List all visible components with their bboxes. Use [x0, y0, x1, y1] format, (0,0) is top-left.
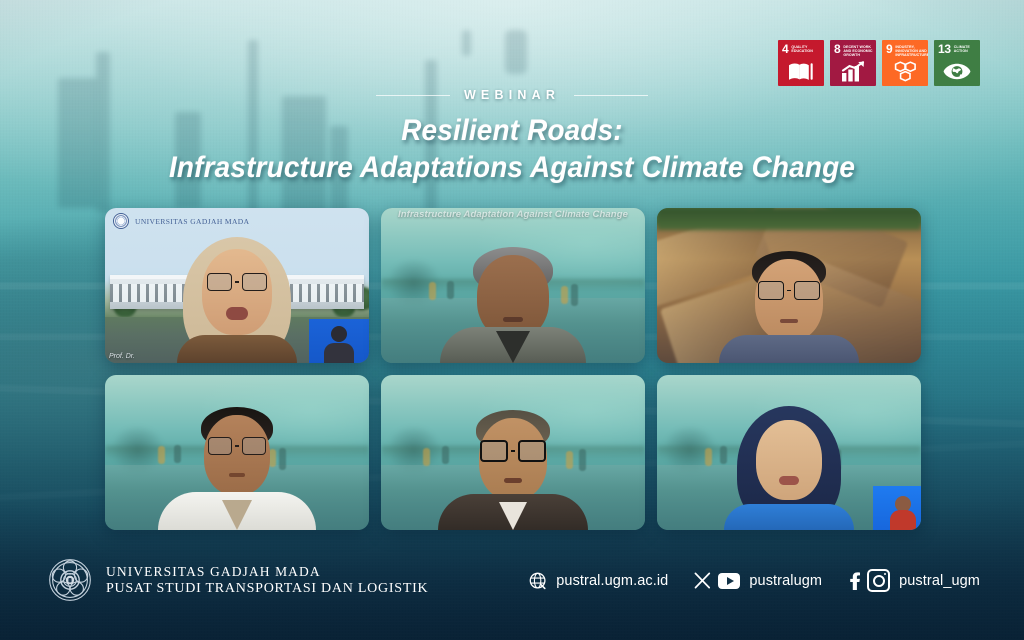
webinar-kicker: WEBINAR [0, 88, 1024, 102]
mouth [504, 478, 522, 483]
contact-website-text: pustral.ugm.ac.id [556, 573, 668, 589]
video-tile-4[interactable] [105, 375, 369, 530]
sdg-label: INDUSTRY, INNOVATION AND INFRASTRUCTURE [895, 44, 928, 58]
mouth [780, 319, 798, 323]
contact-social-x-youtube[interactable]: pustralugm [694, 572, 822, 589]
mouth [229, 473, 245, 477]
social-icon-group [694, 572, 740, 589]
video-tile-1[interactable]: UNIVERSITAS GADJAH MADA Prof. Dr. [105, 208, 369, 363]
ugm-seal-icon [113, 213, 129, 229]
contact-social-fb-ig[interactable]: pustral_ugm [848, 569, 980, 592]
sdg-badge-4: 4 QUALITY EDUCATION [778, 40, 824, 86]
video-tile-2[interactable]: Infrastructure Adaptation Against Climat… [381, 208, 645, 363]
sdg-badge-9: 9 INDUSTRY, INNOVATION AND INFRASTRUCTUR… [882, 40, 928, 86]
sdg-label: CLIMATE ACTION [954, 44, 977, 53]
instagram-icon[interactable] [867, 569, 890, 592]
footer-unit-name: PUSAT STUDI TRANSPORTASI DAN LOGISTIK [106, 580, 428, 598]
globe-icon [529, 572, 547, 590]
torso [719, 335, 859, 363]
participant-silhouette [438, 408, 588, 530]
kicker-rule-right [574, 95, 648, 96]
mouth [503, 317, 523, 322]
sdg-badge-row: 4 QUALITY EDUCATION 8 DECENT WORK AND EC… [778, 40, 980, 86]
footer-contacts: pustral.ugm.ac.id pustralugm [529, 569, 980, 592]
video-grid: UNIVERSITAS GADJAH MADA Prof. Dr. [105, 208, 921, 530]
sdg-number: 13 [938, 44, 951, 54]
participant-silhouette [438, 243, 588, 363]
contact-social-handle-2: pustral_ugm [899, 573, 980, 589]
face [202, 249, 272, 335]
tile-watermark: UNIVERSITAS GADJAH MADA [113, 213, 249, 229]
sdg-number: 4 [782, 44, 788, 54]
cubes-icon [882, 59, 928, 83]
page-title: Resilient Roads: Infrastructure Adaptati… [0, 112, 1024, 186]
video-tile-5[interactable] [381, 375, 645, 530]
sdg-badge-13: 13 CLIMATE ACTION [934, 40, 980, 86]
growth-chart-icon [830, 59, 876, 83]
eye-earth-icon [934, 59, 980, 83]
face [204, 415, 270, 495]
participant-silhouette [719, 402, 859, 530]
youtube-icon[interactable] [718, 573, 740, 589]
title-line-1: Resilient Roads: [36, 112, 988, 149]
footer-branding: UNIVERSITAS GADJAH MADA PUSAT STUDI TRAN… [48, 558, 428, 602]
mouth [779, 476, 799, 485]
social-icon-group [848, 569, 890, 592]
mouth [226, 307, 248, 320]
participant-silhouette [171, 235, 303, 363]
title-line-2: Infrastructure Adaptations Against Clima… [36, 149, 988, 186]
tile-watermark-text: UNIVERSITAS GADJAH MADA [135, 217, 249, 226]
participant-silhouette [157, 404, 317, 530]
kicker-rule-left [376, 95, 450, 96]
video-tile-6[interactable] [657, 375, 921, 530]
contact-social-handle-1: pustralugm [749, 573, 822, 589]
sdg-number: 9 [886, 44, 892, 54]
kicker-label: WEBINAR [464, 88, 560, 102]
eyeglasses-icon [207, 273, 267, 291]
eyeglasses-icon [208, 437, 266, 455]
picture-in-picture-interpreter[interactable] [309, 319, 369, 363]
torso [724, 504, 854, 530]
picture-in-picture-interpreter[interactable] [873, 486, 921, 530]
webinar-poster: 4 QUALITY EDUCATION 8 DECENT WORK AND EC… [0, 0, 1024, 640]
sdg-badge-8: 8 DECENT WORK AND ECONOMIC GROWTH [830, 40, 876, 86]
footer-university-name: UNIVERSITAS GADJAH MADA [106, 563, 428, 580]
open-book-icon [778, 59, 824, 83]
face [756, 420, 822, 500]
ugm-seal-icon [48, 558, 92, 602]
sdg-label: DECENT WORK AND ECONOMIC GROWTH [843, 44, 873, 58]
eyeglasses-icon [758, 281, 820, 300]
footer-org-names: UNIVERSITAS GADJAH MADA PUSAT STUDI TRAN… [106, 563, 428, 598]
x-twitter-icon[interactable] [694, 572, 711, 589]
contact-website[interactable]: pustral.ugm.ac.id [529, 572, 668, 590]
face [755, 259, 823, 341]
torso [177, 335, 297, 363]
video-tile-3[interactable] [657, 208, 921, 363]
tile-caption-overlay: Infrastructure Adaptation Against Climat… [381, 209, 645, 220]
tile-name-strip: Prof. Dr. [109, 353, 135, 360]
facebook-icon[interactable] [848, 571, 860, 590]
sdg-label: QUALITY EDUCATION [791, 44, 821, 53]
eyeglasses-icon [480, 440, 546, 462]
sdg-number: 8 [834, 44, 840, 54]
participant-silhouette [720, 249, 858, 363]
